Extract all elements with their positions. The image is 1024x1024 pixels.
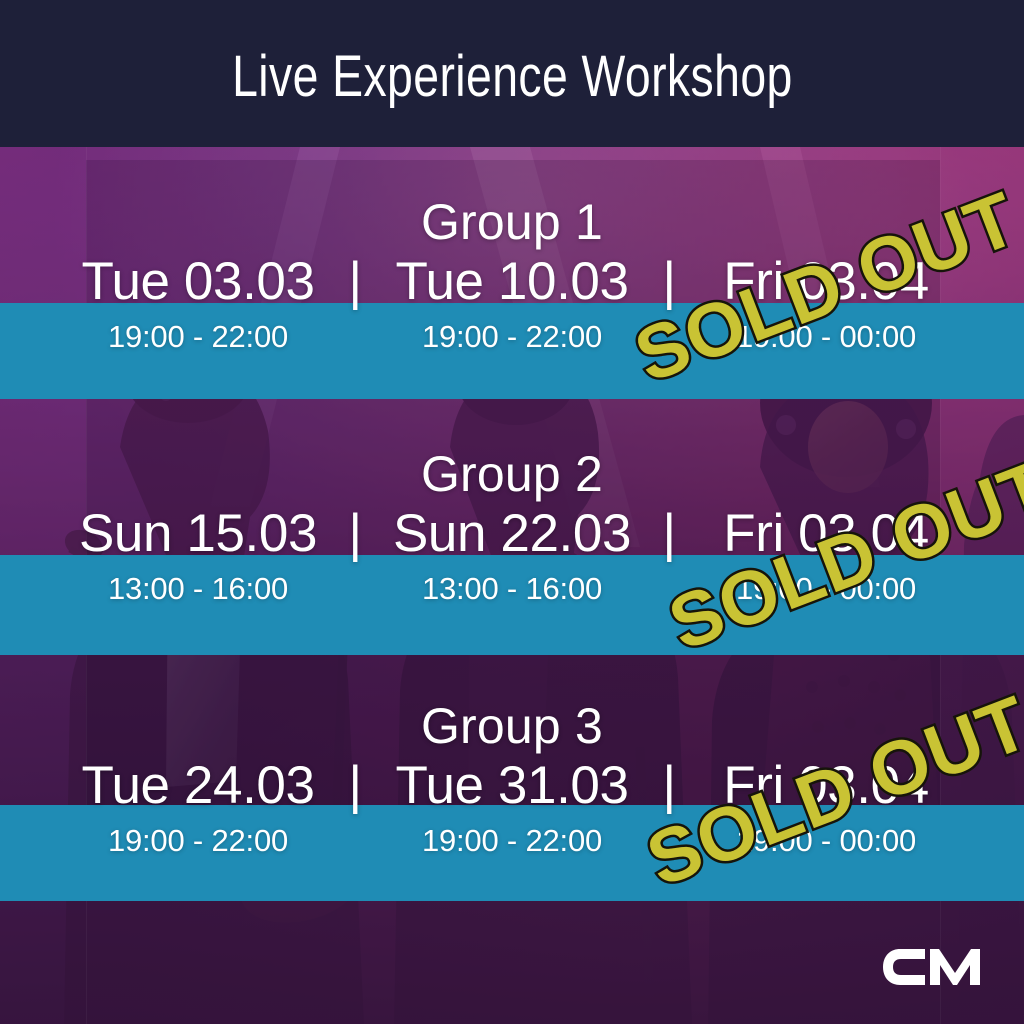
date-separator: | <box>660 503 678 566</box>
session-date: Sun 15.03 <box>50 503 346 566</box>
group-title: Group 2 <box>0 448 1024 501</box>
date-separator: | <box>346 755 364 818</box>
session-date: Tue 10.03 <box>364 251 660 314</box>
session-date: Tue 03.03 <box>50 251 346 314</box>
header-bar: Live Experience Workshop <box>0 0 1024 147</box>
session-date: Tue 31.03 <box>364 755 660 818</box>
page-title: Live Experience Workshop <box>232 42 793 106</box>
session-time: 19:00 - 22:00 <box>50 822 346 859</box>
session-time: 13:00 - 16:00 <box>50 570 346 607</box>
session-date: Tue 24.03 <box>50 755 346 818</box>
session-date: Sun 22.03 <box>364 503 660 566</box>
date-separator: | <box>346 251 364 314</box>
date-separator: | <box>346 503 364 566</box>
session-time: 19:00 - 22:00 <box>364 822 660 859</box>
time-spacer <box>346 318 364 355</box>
cm-logo <box>882 946 988 988</box>
session-time: 19:00 - 22:00 <box>50 318 346 355</box>
time-spacer <box>346 822 364 859</box>
time-spacer <box>346 570 364 607</box>
session-time: 13:00 - 16:00 <box>364 570 660 607</box>
poster-canvas: Live Experience Workshop Group 1 Tue 03.… <box>0 0 1024 1024</box>
group-times-row: 19:00 - 22:00 19:00 - 22:00 19:00 - 00:0… <box>0 822 1024 859</box>
group-times-row: 19:00 - 22:00 19:00 - 22:00 19:00 - 00:0… <box>0 318 1024 355</box>
session-time: 19:00 - 22:00 <box>364 318 660 355</box>
